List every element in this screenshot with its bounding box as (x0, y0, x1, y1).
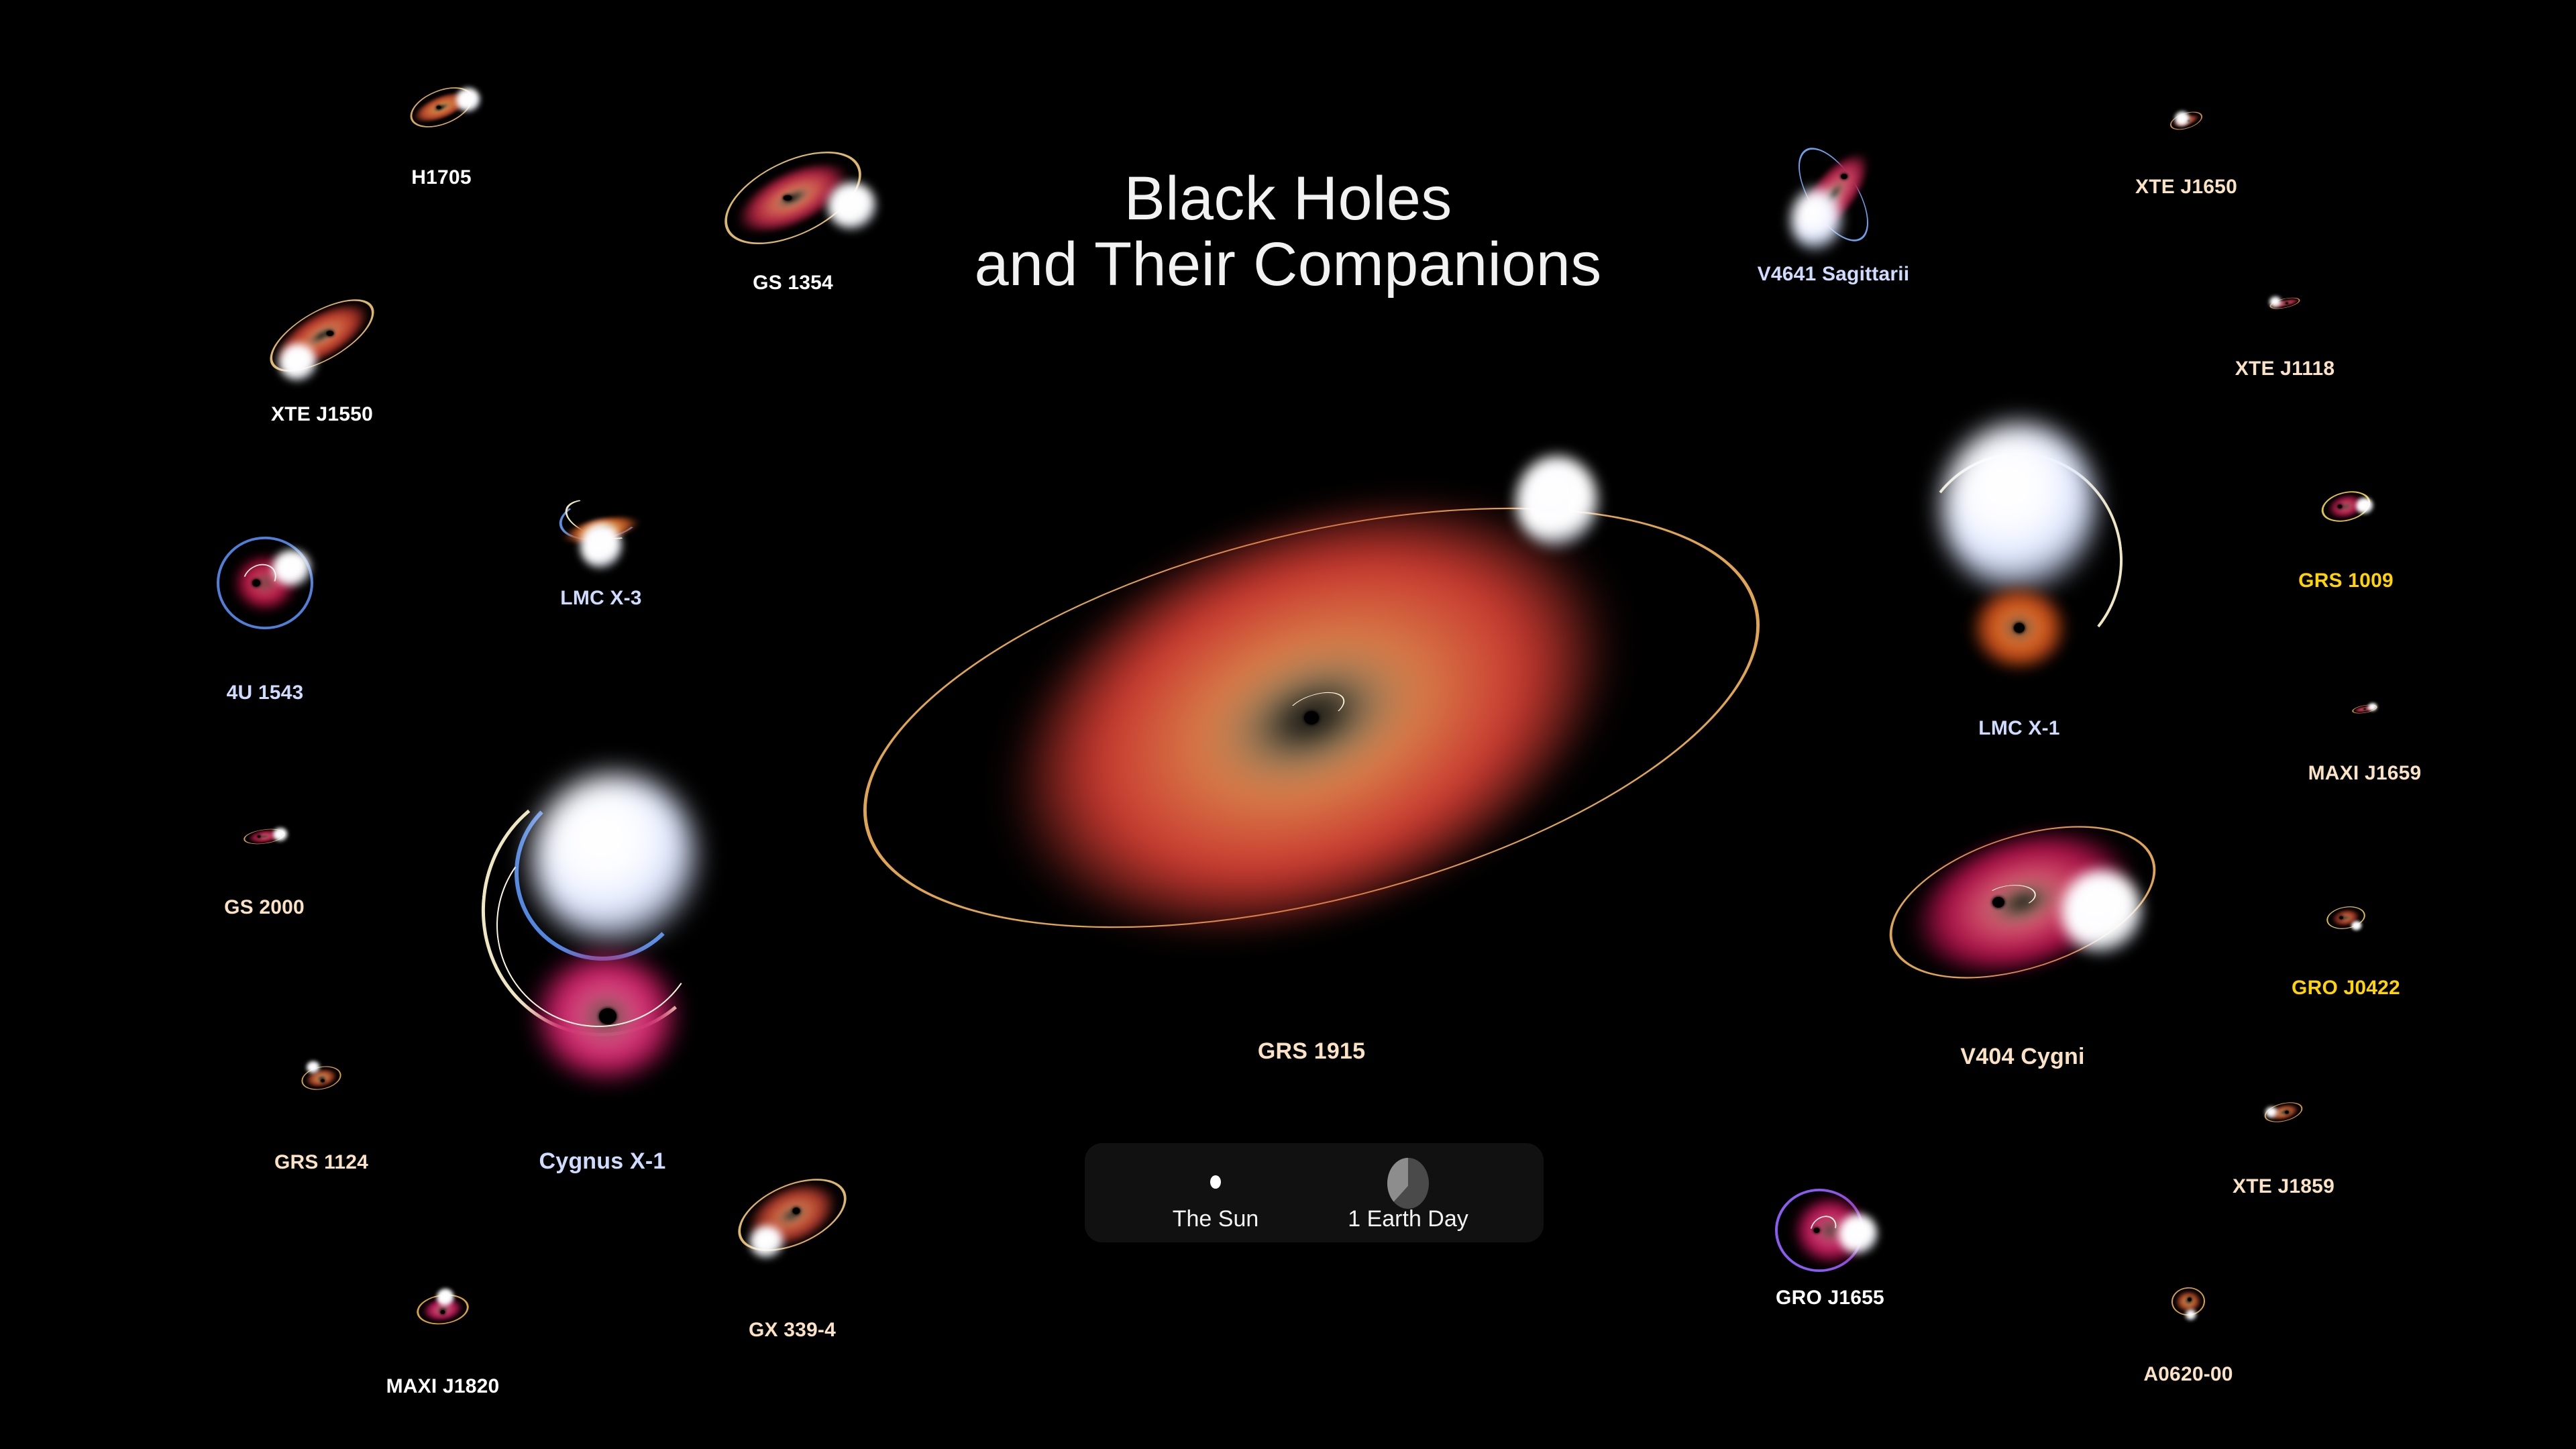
black-hole (2014, 623, 2025, 633)
system-label: XTE J1859 (2233, 1175, 2334, 1198)
companion-star (2356, 498, 2373, 514)
black-hole (2364, 708, 2366, 710)
black-hole (793, 1207, 800, 1214)
black-hole (258, 835, 261, 838)
black-hole (321, 1079, 325, 1083)
system-label: A0620-00 (2143, 1363, 2233, 1386)
system-label: GX 339-4 (749, 1319, 836, 1342)
legend-item-day: 1 Earth Day (1328, 1143, 1489, 1242)
system-label: GRO J1655 (1776, 1287, 1884, 1309)
black-hole (2286, 303, 2288, 305)
system-label: MAXI J1659 (2308, 762, 2422, 785)
system-label: GRS 1915 (1258, 1038, 1365, 1065)
black-hole (1841, 174, 1847, 179)
system-label: 4U 1543 (227, 682, 304, 704)
companion-star (456, 88, 480, 112)
companion-star (1516, 456, 1598, 547)
sun-dot-icon (1210, 1175, 1221, 1189)
black-hole (327, 331, 334, 336)
system-label: GRS 1124 (274, 1151, 368, 1174)
system-label: GS 2000 (224, 896, 305, 919)
clock-pie-icon (1387, 1158, 1429, 1209)
system-label: V4641 Sagittarii (1758, 263, 1910, 286)
black-hole (784, 195, 792, 201)
companion-star (750, 1226, 784, 1258)
black-hole (2188, 1297, 2192, 1301)
companion-star (437, 1289, 454, 1306)
system-label: XTE J1650 (2135, 176, 2237, 199)
scale-legend: The Sun 1 Earth Day (1085, 1143, 1544, 1242)
companion-star (2186, 1309, 2196, 1320)
system-label: LMC X-3 (560, 587, 641, 610)
legend-sun-label: The Sun (1173, 1206, 1259, 1232)
system-label: H1705 (411, 166, 471, 189)
companion-star (1839, 1214, 1878, 1254)
system-label: GS 1354 (753, 272, 833, 294)
legend-item-sun: The Sun (1145, 1143, 1286, 1242)
companion-star (2265, 1107, 2277, 1118)
companion-star (1942, 423, 2096, 591)
system-label: GRO J0422 (2292, 977, 2400, 1000)
companion-star (1791, 189, 1841, 251)
black-hole (2338, 504, 2343, 508)
companion-star (307, 1061, 320, 1073)
companion-star (2175, 111, 2190, 126)
companion-star (2269, 297, 2282, 307)
black-hole (437, 106, 441, 109)
system-label: XTE J1118 (2235, 358, 2335, 380)
system-label: XTE J1550 (271, 403, 373, 426)
title-line-2: and Their Companions (0, 232, 2576, 298)
companion-star (580, 523, 622, 569)
companion-star (273, 828, 288, 841)
black-hole (2339, 916, 2343, 920)
system-label: GRS 1009 (2298, 570, 2394, 592)
companion-star (2368, 703, 2377, 711)
system-label: Cygnus X-1 (539, 1148, 665, 1175)
companion-star (272, 550, 311, 586)
system-label: V404 Cygni (1960, 1044, 2084, 1070)
black-hole (600, 508, 605, 513)
starfield-canvas: Black Holes and Their Companions H1705 G… (0, 0, 2576, 1449)
companion-star (279, 343, 317, 381)
system-label: LMC X-1 (1978, 717, 2059, 740)
black-hole (441, 1310, 445, 1314)
companion-star (2061, 870, 2142, 953)
title-line-1: Black Holes (1124, 164, 1452, 233)
companion-star (2351, 921, 2362, 930)
system-label: MAXI J1820 (386, 1375, 500, 1398)
black-hole (2285, 1111, 2289, 1114)
companion-star (828, 182, 876, 229)
legend-day-label: 1 Earth Day (1348, 1206, 1468, 1232)
